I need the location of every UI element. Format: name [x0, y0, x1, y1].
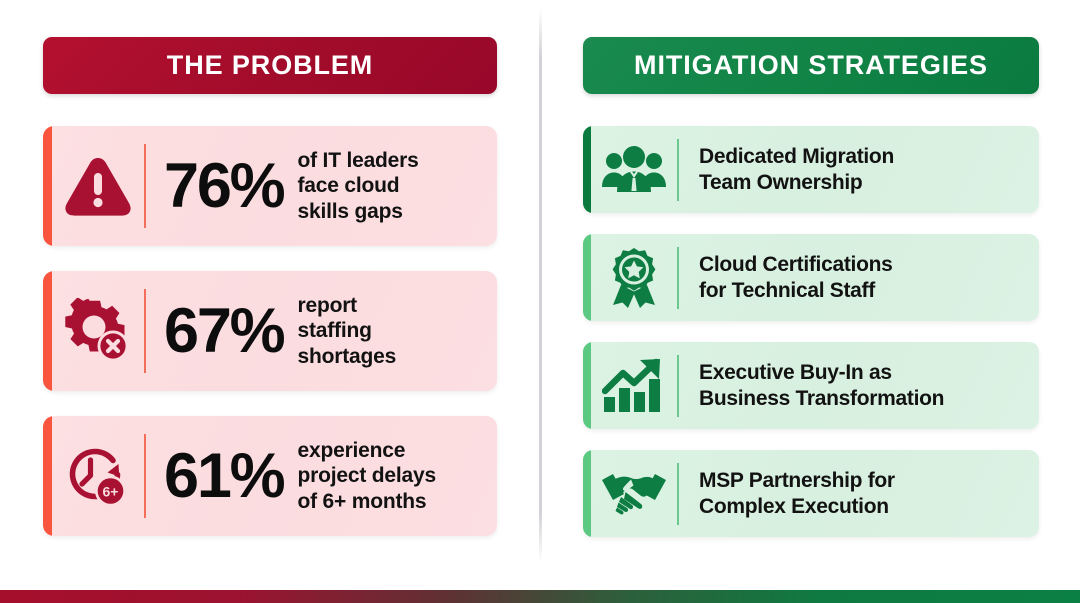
mitigation-card: MSP Partnership for Complex Execution [583, 450, 1039, 537]
mitigation-card: Dedicated Migration Team Ownership [583, 126, 1039, 213]
mitigation-label-line: Business Transformation [699, 386, 944, 412]
problem-desc-line: report [298, 293, 397, 318]
mitigation-card-list: Dedicated Migration Team Ownership [583, 126, 1039, 537]
mitigation-card: Cloud Certifications for Technical Staff [583, 234, 1039, 321]
problem-desc-line: of 6+ months [298, 489, 436, 514]
mitigation-label-line: Cloud Certifications [699, 252, 893, 278]
mitigation-header-title: MITIGATION STRATEGIES [634, 52, 988, 79]
gear-error-icon [52, 298, 144, 364]
mitigation-card: Executive Buy-In as Business Transformat… [583, 342, 1039, 429]
mitigation-card-divider [677, 355, 679, 417]
problem-column: THE PROBLEM 76% of IT leaders face cloud [0, 0, 540, 603]
problem-desc-line: face cloud [298, 173, 419, 198]
mitigation-label: MSP Partnership for Complex Execution [699, 468, 895, 519]
problem-desc-line: of IT leaders [298, 148, 419, 173]
problem-desc-line: skills gaps [298, 199, 419, 224]
mitigation-header: MITIGATION STRATEGIES [583, 37, 1039, 94]
problem-stat-value: 61% [164, 445, 284, 508]
problem-desc-line: staffing [298, 318, 397, 343]
footer-gradient-bar [0, 590, 1080, 603]
mitigation-label-line: MSP Partnership for [699, 468, 895, 494]
mitigation-label-line: Team Ownership [699, 170, 894, 196]
mitigation-label-line: Executive Buy-In as [699, 360, 944, 386]
problem-card: 67% report staffing shortages [43, 271, 497, 391]
mitigation-label: Cloud Certifications for Technical Staff [699, 252, 893, 303]
problem-card-divider [144, 289, 146, 373]
problem-stat-description: of IT leaders face cloud skills gaps [298, 148, 419, 224]
people-group-icon [591, 145, 677, 195]
mitigation-label-line: for Technical Staff [699, 278, 893, 304]
clock-delay-icon: 6+ [52, 442, 144, 510]
problem-desc-line: project delays [298, 463, 436, 488]
mitigation-column: MITIGATION STRATEGIES [540, 0, 1080, 603]
handshake-icon [591, 470, 677, 518]
mitigation-card-divider [677, 247, 679, 309]
problem-card-divider [144, 434, 146, 518]
problem-header-title: THE PROBLEM [167, 52, 373, 79]
mitigation-label-line: Dedicated Migration [699, 144, 894, 170]
problem-card-list: 76% of IT leaders face cloud skills gaps [43, 126, 497, 536]
problem-stat-value: 76% [164, 155, 284, 218]
problem-card: 6+ 61% experience project delays of 6+ m… [43, 416, 497, 536]
award-medal-icon [591, 247, 677, 309]
mitigation-label: Dedicated Migration Team Ownership [699, 144, 894, 195]
clock-badge-label: 6+ [103, 484, 119, 500]
problem-desc-line: shortages [298, 344, 397, 369]
problem-header: THE PROBLEM [43, 37, 497, 94]
problem-stat-value: 67% [164, 300, 284, 363]
mitigation-label-line: Complex Execution [699, 494, 895, 520]
infographic-root: THE PROBLEM 76% of IT leaders face cloud [0, 0, 1080, 603]
problem-stat-description: experience project delays of 6+ months [298, 438, 436, 514]
warning-triangle-icon [52, 155, 144, 217]
growth-chart-icon [591, 357, 677, 415]
mitigation-card-divider [677, 139, 679, 201]
problem-stat-description: report staffing shortages [298, 293, 397, 369]
problem-card-divider [144, 144, 146, 228]
problem-desc-line: experience [298, 438, 436, 463]
problem-card: 76% of IT leaders face cloud skills gaps [43, 126, 497, 246]
mitigation-label: Executive Buy-In as Business Transformat… [699, 360, 944, 411]
mitigation-card-divider [677, 463, 679, 525]
